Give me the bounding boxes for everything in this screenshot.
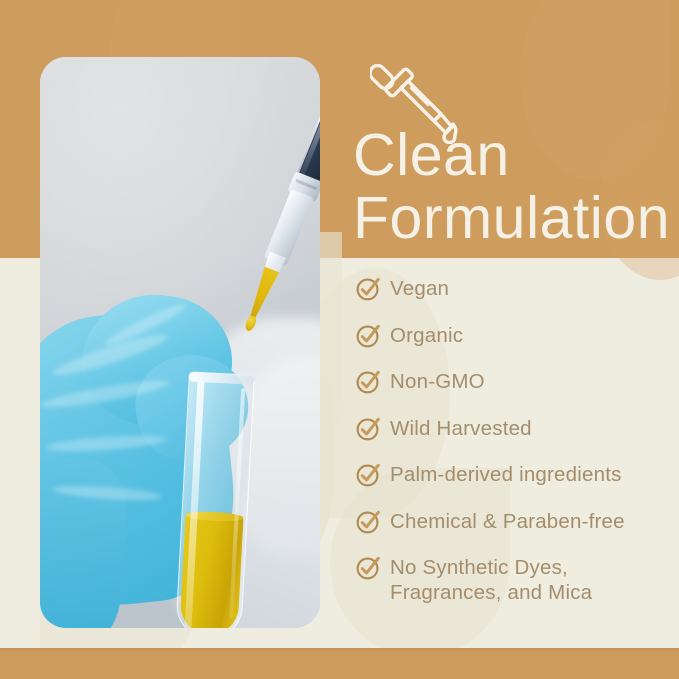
- list-item: No Synthetic Dyes, Fragrances, and Mica: [354, 555, 679, 602]
- list-item-label: Vegan: [390, 276, 449, 301]
- list-item-label: No Synthetic Dyes, Fragrances, and Mica: [390, 555, 592, 605]
- claims-list: Vegan Organic Non-GMO: [354, 276, 679, 602]
- check-circle-icon: [356, 416, 381, 441]
- glove-wrist: [40, 452, 130, 628]
- list-item: Organic: [354, 323, 679, 370]
- check-circle-icon: [356, 276, 381, 301]
- list-item-label: Non-GMO: [390, 369, 485, 394]
- content-column: Clean Formulation Vegan: [352, 0, 679, 679]
- list-item-label: Palm-derived ingredients: [390, 462, 622, 487]
- check-circle-icon: [356, 462, 381, 487]
- list-item: Vegan: [354, 276, 679, 323]
- title-line-1: Clean: [353, 125, 679, 186]
- list-item: Chemical & Paraben-free: [354, 509, 679, 556]
- check-circle-icon: [356, 369, 381, 394]
- list-item-label: Wild Harvested: [390, 416, 532, 441]
- check-circle-icon: [356, 509, 381, 534]
- title-line-2: Formulation: [353, 188, 679, 249]
- check-circle-icon: [356, 323, 381, 348]
- list-item: Wild Harvested: [354, 416, 679, 463]
- page-title: Clean Formulation: [353, 125, 679, 249]
- pipette-oil-bead: [244, 314, 258, 332]
- test-tube: [175, 371, 255, 628]
- list-item-label: Chemical & Paraben-free: [390, 509, 625, 534]
- list-item-label: Organic: [390, 323, 463, 348]
- check-circle-icon: [356, 555, 381, 580]
- product-photo: [40, 57, 320, 628]
- list-item: Palm-derived ingredients: [354, 462, 679, 509]
- infographic-canvas: Clean Formulation Vegan: [0, 0, 679, 679]
- list-item: Non-GMO: [354, 369, 679, 416]
